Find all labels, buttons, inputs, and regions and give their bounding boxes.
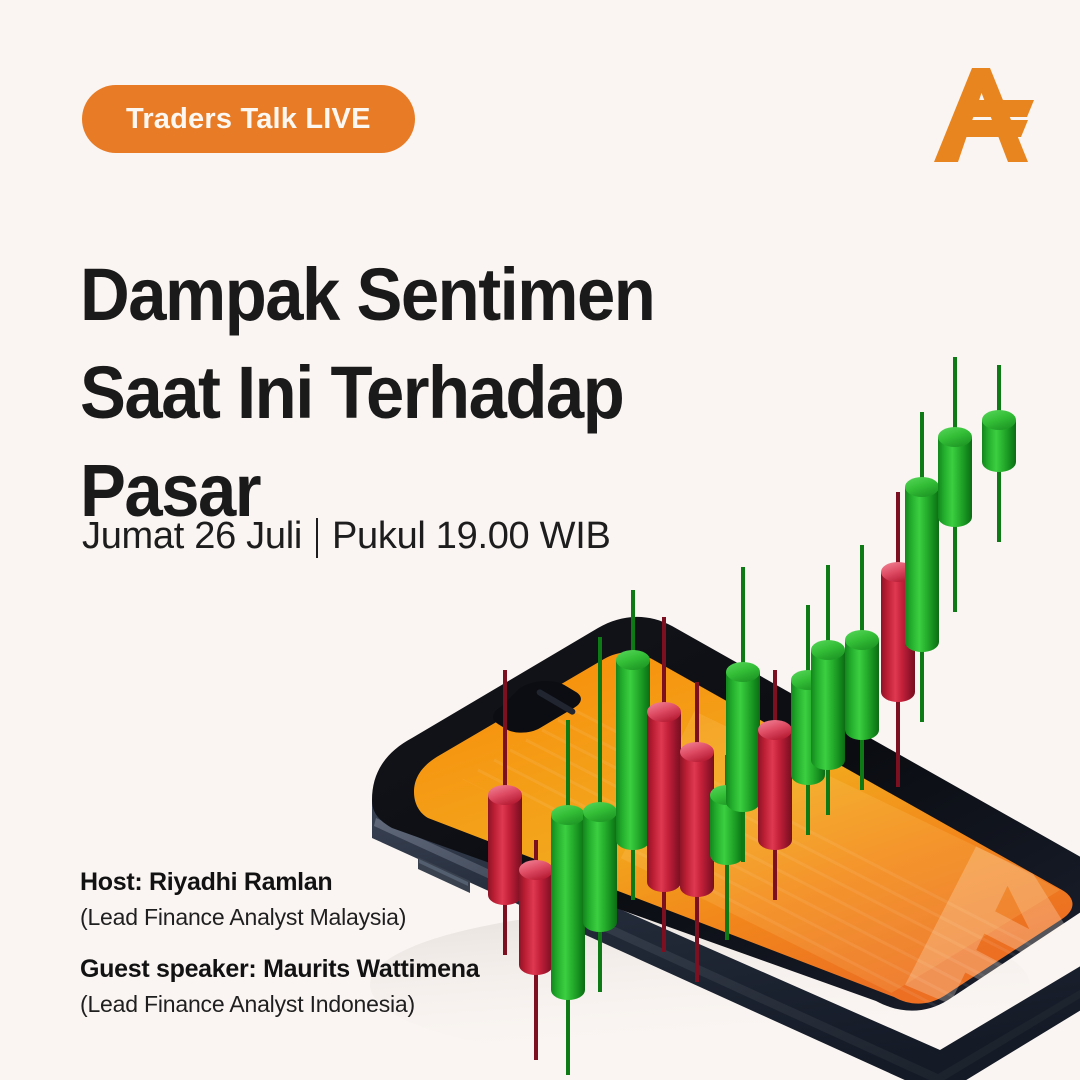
live-badge[interactable]: Traders Talk LIVE: [82, 85, 415, 153]
brand-a-logo-icon: [928, 58, 1034, 168]
event-time: Pukul 19.00 WIB: [332, 515, 611, 558]
event-date: Jumat 26 Juli: [82, 515, 302, 558]
page-title: Dampak Sentimen Saat Ini Terhadap Pasar: [80, 246, 787, 540]
headline-line-1: Dampak Sentimen: [80, 246, 787, 344]
event-schedule: Jumat 26 Juli Pukul 19.00 WIB: [82, 515, 611, 558]
text-content-layer: Traders Talk LIVE Dampak Sentimen Saat I…: [0, 0, 1080, 1080]
schedule-separator: [316, 518, 318, 558]
host-role: (Lead Finance Analyst Malaysia): [80, 904, 479, 931]
poster-canvas: Traders Talk LIVE Dampak Sentimen Saat I…: [0, 0, 1080, 1080]
guest-role: (Lead Finance Analyst Indonesia): [80, 991, 479, 1018]
live-badge-label: Traders Talk LIVE: [126, 103, 371, 136]
host-name: Host: Riyadhi Ramlan: [80, 868, 479, 897]
headline-line-2: Saat Ini Terhadap: [80, 344, 787, 442]
guest-name: Guest speaker: Maurits Wattimena: [80, 955, 479, 984]
speaker-credits: Host: Riyadhi Ramlan (Lead Finance Analy…: [80, 868, 479, 1018]
credit-host: Host: Riyadhi Ramlan (Lead Finance Analy…: [80, 868, 479, 931]
credit-guest: Guest speaker: Maurits Wattimena (Lead F…: [80, 955, 479, 1018]
